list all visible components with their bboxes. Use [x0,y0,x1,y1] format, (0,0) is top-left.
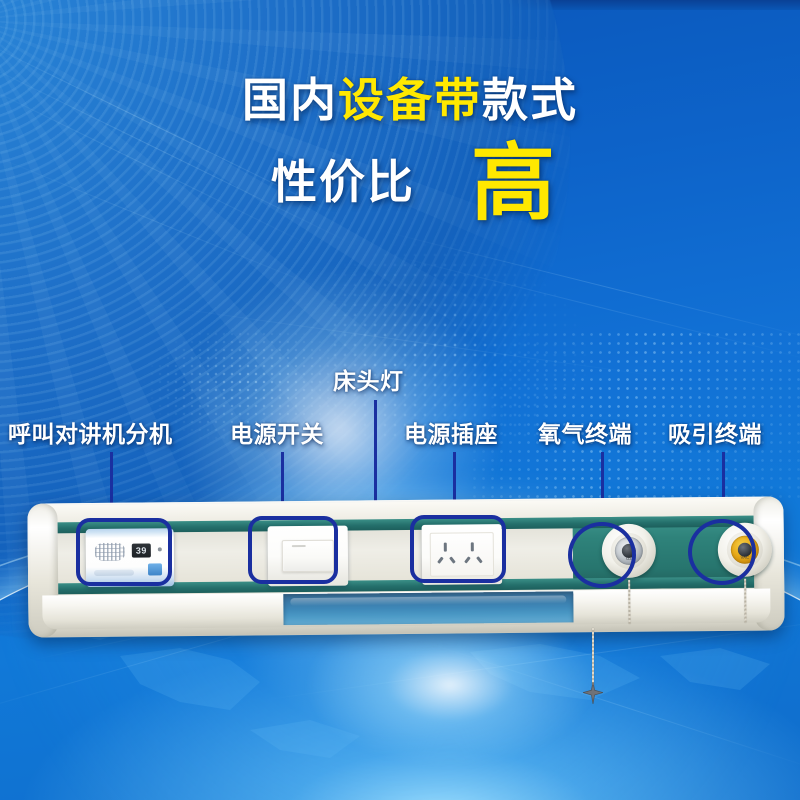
highlight-power-socket [410,515,506,583]
callout-label-bed-lamp: 床头灯 [333,362,404,396]
callout-label-power-switch: 电源开关 [230,415,324,449]
highlight-power-switch [248,516,338,584]
callout-group: 呼叫对讲机分机 电源开关 床头灯 电源插座 氧气终端 吸引终端 [0,0,800,800]
highlight-oxygen-terminal [568,522,636,588]
callout-label-intercom: 呼叫对讲机分机 [8,415,173,449]
poster-stage: 国内设备带款式 性价比高 呼叫对讲机分机 电源开关 床头灯 电源插座 氧气终端 … [0,0,800,800]
highlight-intercom [76,518,172,586]
highlight-suction-terminal [688,519,756,585]
oxygen-terminal-cord [628,580,630,624]
pull-cord-plug-icon[interactable] [583,682,603,704]
callout-label-suction-terminal: 吸引终端 [668,415,762,449]
suction-terminal-cord [744,579,746,623]
callout-label-power-socket: 电源插座 [404,415,498,449]
pull-cord[interactable] [592,628,594,690]
callout-label-oxygen-terminal: 氧气终端 [538,415,632,449]
